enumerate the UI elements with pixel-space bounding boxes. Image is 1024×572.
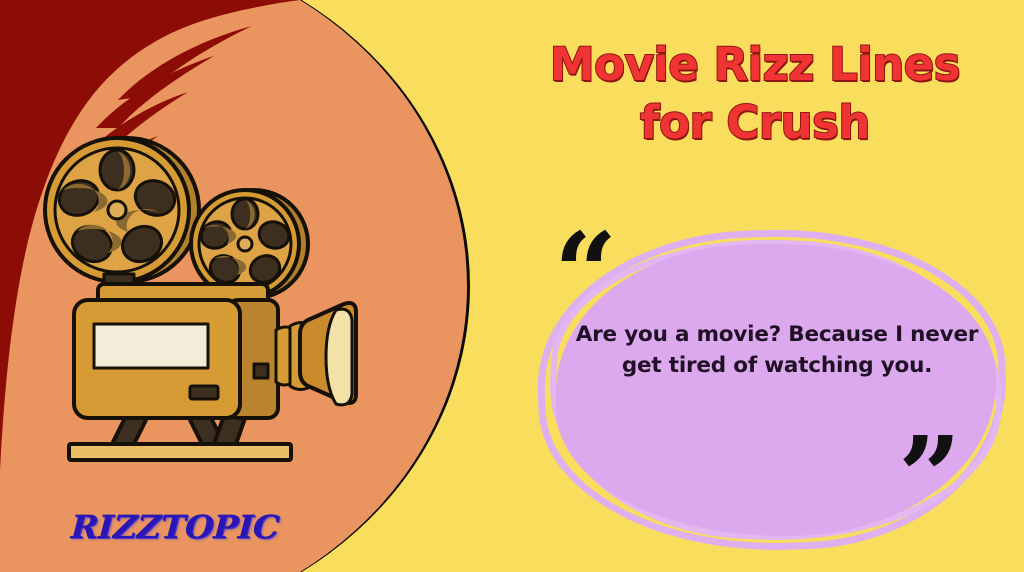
poster-canvas: RIZZTOPIC Movie Rizz Lines for Crush “ A…: [0, 0, 1024, 572]
quote-open-mark-icon: “: [554, 218, 617, 328]
quote-text: Are you a movie? Because I never get tir…: [568, 320, 986, 381]
page-title-line-1: Movie Rizz Lines: [500, 36, 1010, 94]
movie-projector-illustration: [32, 132, 362, 482]
quote-card: “ Are you a movie? Because I never get t…: [520, 222, 1020, 572]
brand-logo: RIZZTOPIC: [34, 508, 317, 546]
page-title: Movie Rizz Lines for Crush: [500, 36, 1010, 151]
quote-close-mark-icon: ”: [898, 422, 961, 532]
page-title-line-2: for Crush: [500, 94, 1010, 152]
